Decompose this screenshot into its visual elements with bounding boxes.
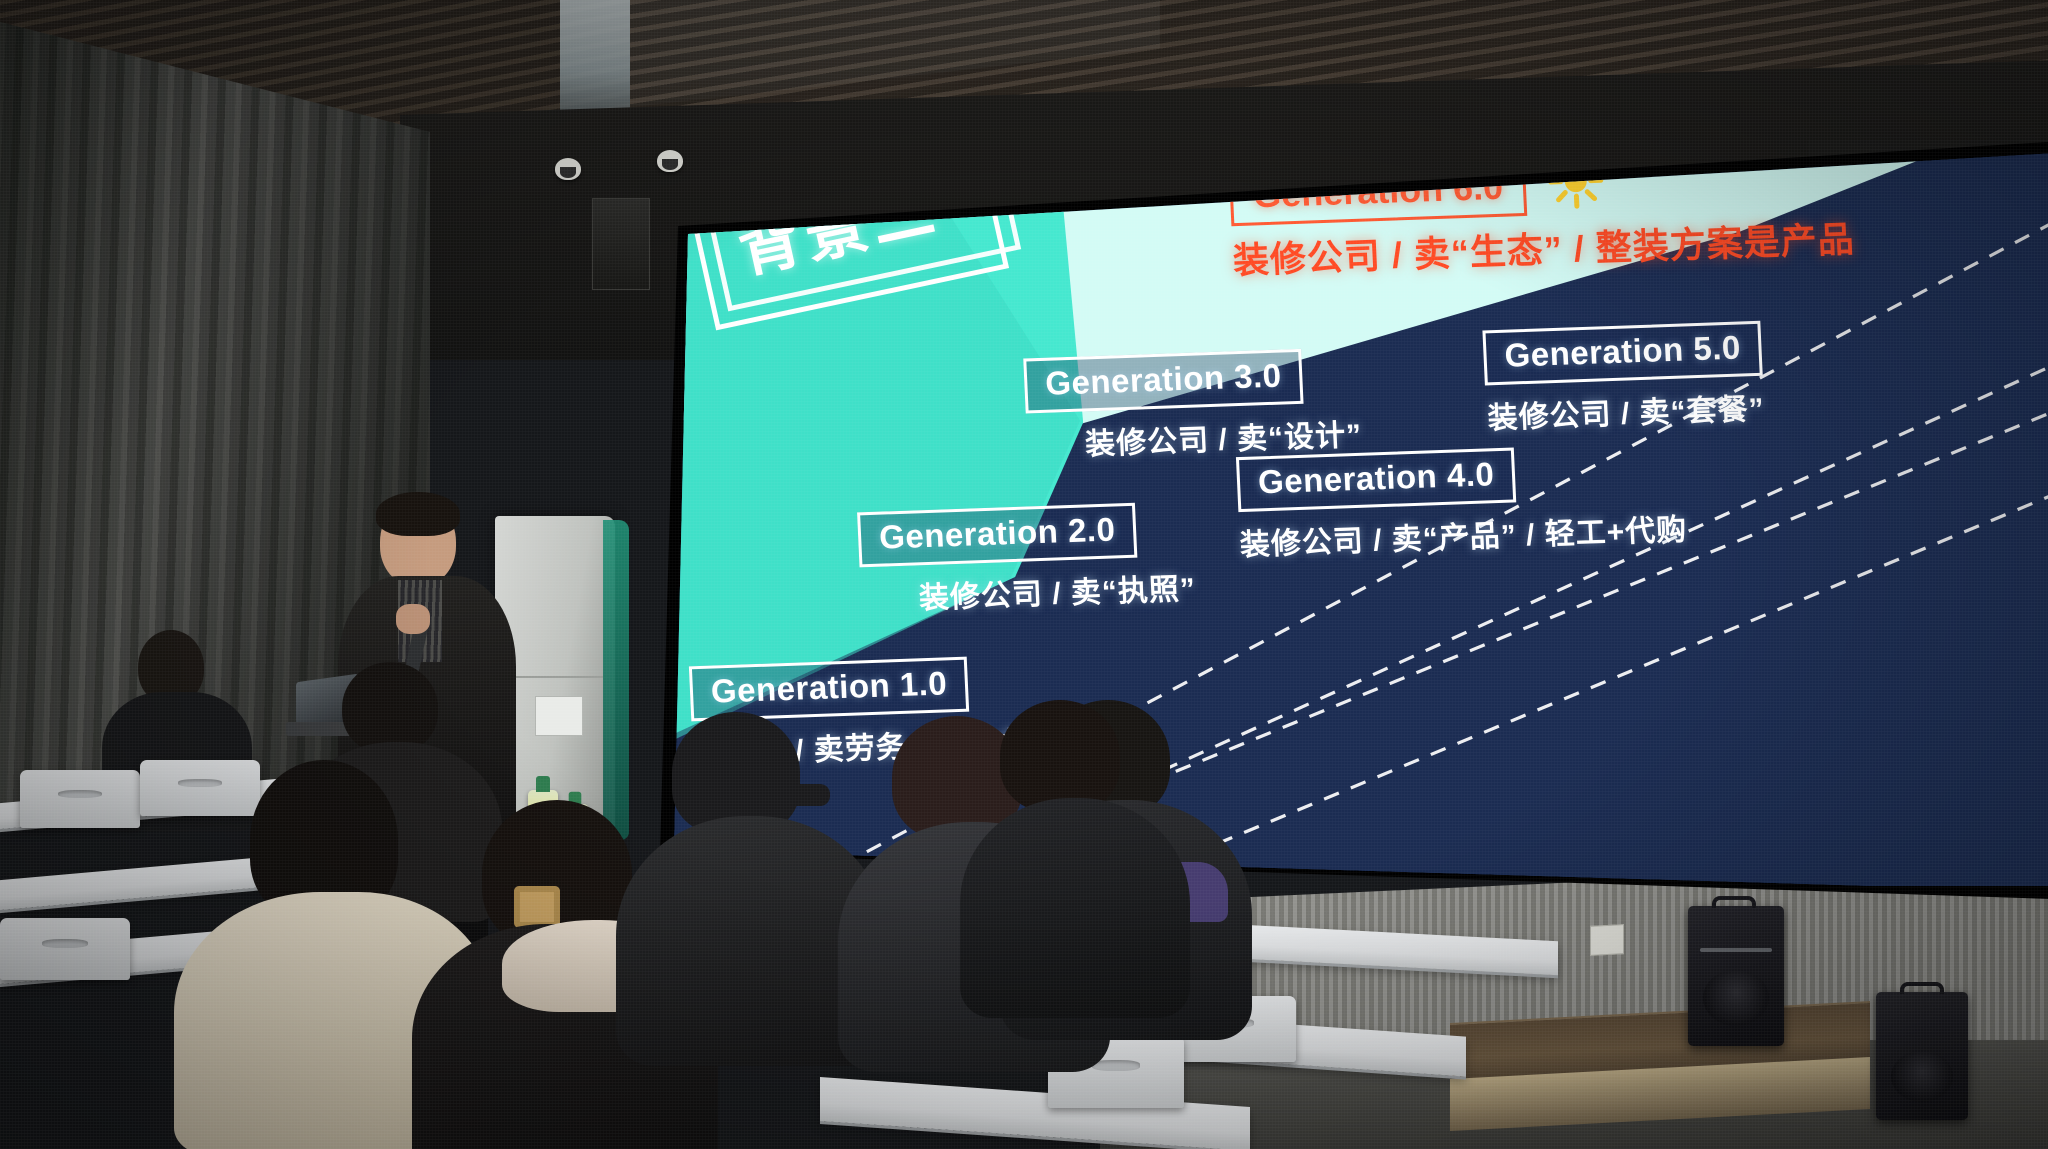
wall-power-outlet <box>1590 924 1624 956</box>
generation-item-3: Generation 3.0 装修公司 / 卖“设计” <box>1023 347 1363 466</box>
attendee-head <box>1000 700 1120 812</box>
presentation-slide: 背景二 Generation 1.0 装修队 / 卖劳务 / 劳动力是… Gen… <box>674 150 2048 886</box>
chair <box>0 918 130 980</box>
attendee-body <box>960 798 1190 1018</box>
chair <box>140 760 260 816</box>
cabinet-side-panel <box>603 520 629 840</box>
sub-speaker <box>1876 992 1968 1120</box>
speaker-grille-line <box>1700 948 1773 952</box>
cabinet-label <box>535 696 583 736</box>
wall-mounted-speaker <box>592 198 650 290</box>
dome-camera-icon <box>657 150 683 172</box>
generation-label: Generation 4.0 <box>1236 447 1517 512</box>
screenshot-root: 背景二 Generation 1.0 装修队 / 卖劳务 / 劳动力是… Gen… <box>0 0 2048 1149</box>
generation-item-5: Generation 5.0 装修公司 / 卖“套餐” <box>1482 321 1765 438</box>
dome-camera-icon <box>555 158 581 180</box>
presenter-hand <box>396 604 430 634</box>
speaker-handle <box>1712 896 1756 908</box>
generation-label: Generation 5.0 <box>1482 321 1763 386</box>
pa-speaker <box>1688 906 1784 1046</box>
attendee-head <box>342 662 438 754</box>
generation-label: Generation 3.0 <box>1023 349 1304 414</box>
presenter-hair <box>376 492 460 536</box>
chair <box>20 770 140 828</box>
generation-item-4: Generation 4.0 装修公司 / 卖“产品” / 轻工+代购 <box>1236 442 1688 565</box>
speaker-cone <box>1891 1051 1954 1102</box>
speaker-cone <box>1703 970 1768 1026</box>
sub-speaker-handle <box>1900 982 1944 994</box>
hair-clip <box>514 886 560 928</box>
projection-screen: 背景二 Generation 1.0 装修队 / 卖劳务 / 劳动力是… Gen… <box>674 150 2048 886</box>
cap-brim <box>788 784 830 806</box>
generation-item-2: Generation 2.0 装修公司 / 卖“执照” <box>857 501 1197 620</box>
generation-label: Generation 2.0 <box>857 503 1138 568</box>
cabinet-seam <box>507 676 603 678</box>
